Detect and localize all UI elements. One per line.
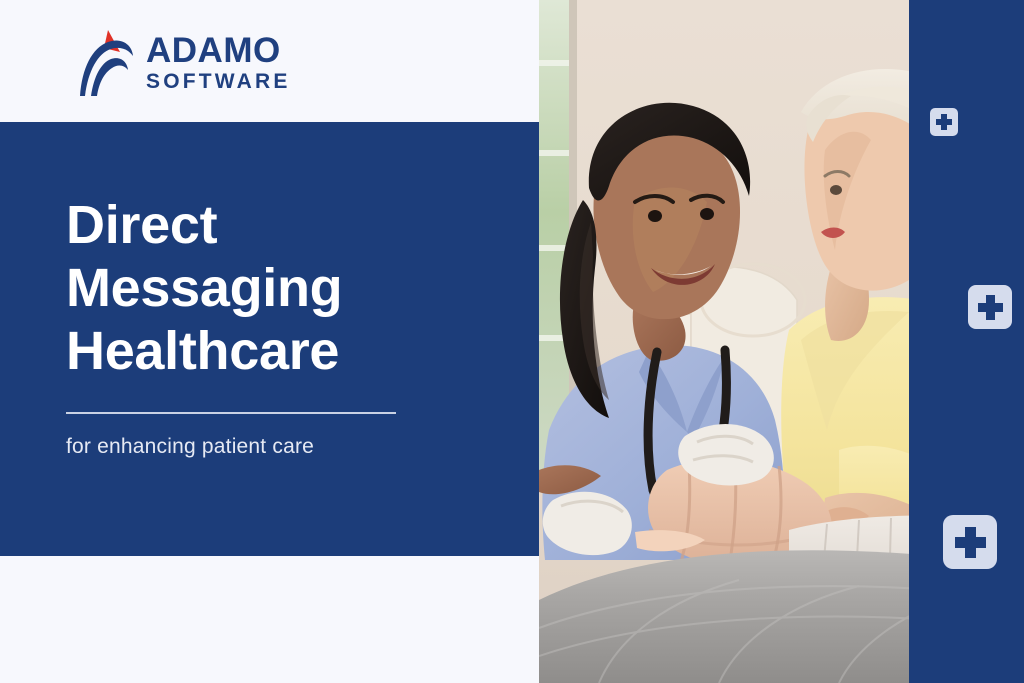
adamo-swoosh-logo-icon xyxy=(78,26,134,98)
decorative-right-panel xyxy=(909,0,1024,683)
headline-line-3: Healthcare xyxy=(66,320,486,383)
brand-wordmark: ADAMO SOFTWARE xyxy=(146,31,291,94)
medical-cross-icon-medium xyxy=(968,285,1012,329)
cross-bar-vertical xyxy=(965,527,976,558)
marketing-banner: ADAMO SOFTWARE Direct Messaging Healthca… xyxy=(0,0,1024,683)
hero-blue-panel: Direct Messaging Healthcare for enhancin… xyxy=(0,122,539,556)
brand-name-primary: ADAMO xyxy=(146,33,291,69)
brand-logo[interactable]: ADAMO SOFTWARE xyxy=(78,22,378,102)
brand-name-secondary: SOFTWARE xyxy=(146,70,291,93)
cross-bar-vertical xyxy=(986,295,995,320)
headline-line-2: Messaging xyxy=(66,257,486,320)
headline-divider xyxy=(66,412,396,414)
cross-bar-vertical xyxy=(941,114,947,130)
medical-cross-icon-small xyxy=(930,108,958,136)
page-subtitle: for enhancing patient care xyxy=(66,435,314,459)
headline-line-1: Direct xyxy=(66,194,486,257)
medical-cross-icon-large xyxy=(943,515,997,569)
page-title: Direct Messaging Healthcare xyxy=(66,194,486,384)
